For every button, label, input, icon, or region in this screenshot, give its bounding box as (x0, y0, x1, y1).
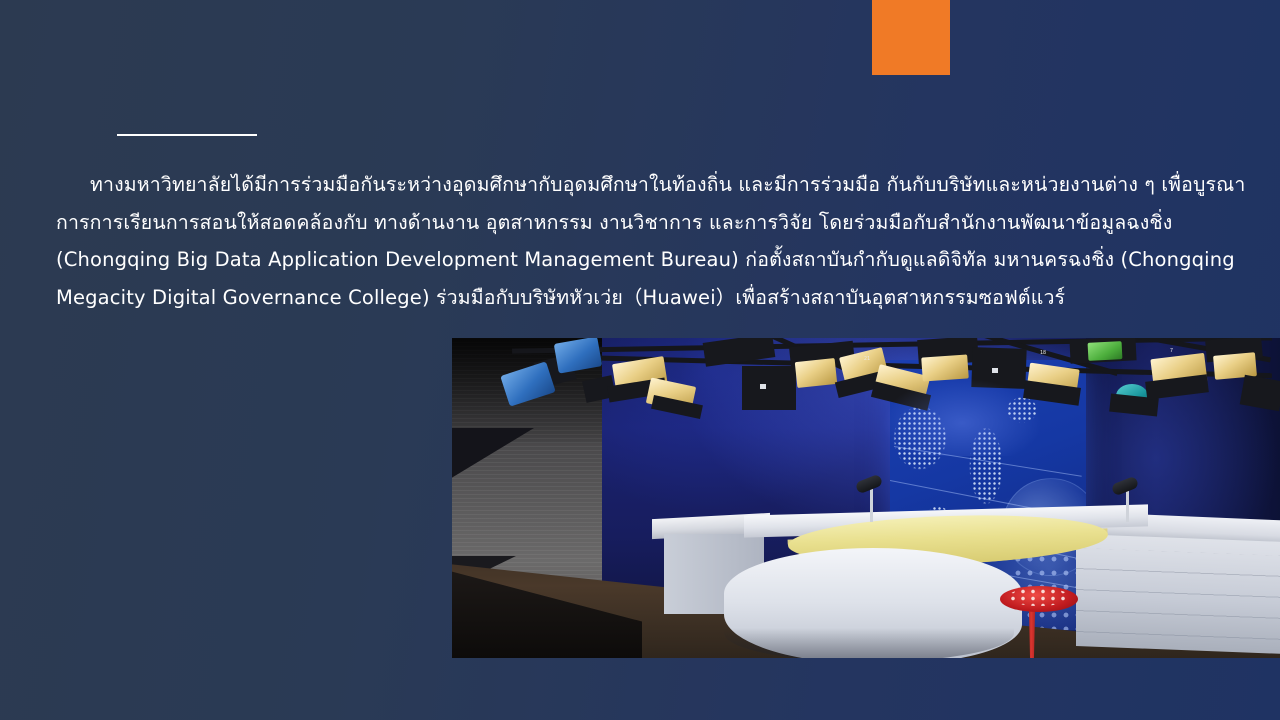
title-underline-rule (117, 134, 257, 136)
lamp-number-label: 18 (1040, 350, 1046, 356)
green-studio-lamp (1088, 341, 1123, 361)
ceiling-lighting-rig: 18 21 7 (452, 338, 1280, 456)
stool-seat-dots (1008, 588, 1070, 606)
lamp-number-label: 21 (864, 356, 870, 362)
studio-scene: 18 21 7 (452, 338, 1280, 658)
blue-studio-lamp (500, 361, 556, 406)
microphone-stand (1126, 490, 1129, 522)
lamp-label-tag (760, 384, 766, 389)
podium-shadow (724, 628, 1014, 658)
studio-lamp-box (742, 366, 796, 410)
tungsten-studio-lamp (921, 354, 969, 381)
slide-canvas: ทางมหาวิทยาลัยได้มีการร่วมมือกันระหว่างอ… (0, 0, 1280, 720)
microphone-stand (870, 488, 873, 522)
studio-lamp-box (971, 347, 1026, 389)
tungsten-studio-lamp (795, 358, 837, 388)
body-paragraph: ทางมหาวิทยาลัยได้มีการร่วมมือกันระหว่างอ… (56, 166, 1252, 316)
desk-right-panel-lines (1076, 548, 1280, 642)
blue-studio-lamp (554, 338, 603, 374)
lamp-label-tag (992, 368, 998, 373)
studio-lamp-body (1240, 375, 1280, 411)
orange-accent-block (872, 0, 950, 75)
tv-studio-photograph: 18 21 7 (452, 338, 1280, 658)
lamp-number-label: 7 (1170, 348, 1173, 354)
